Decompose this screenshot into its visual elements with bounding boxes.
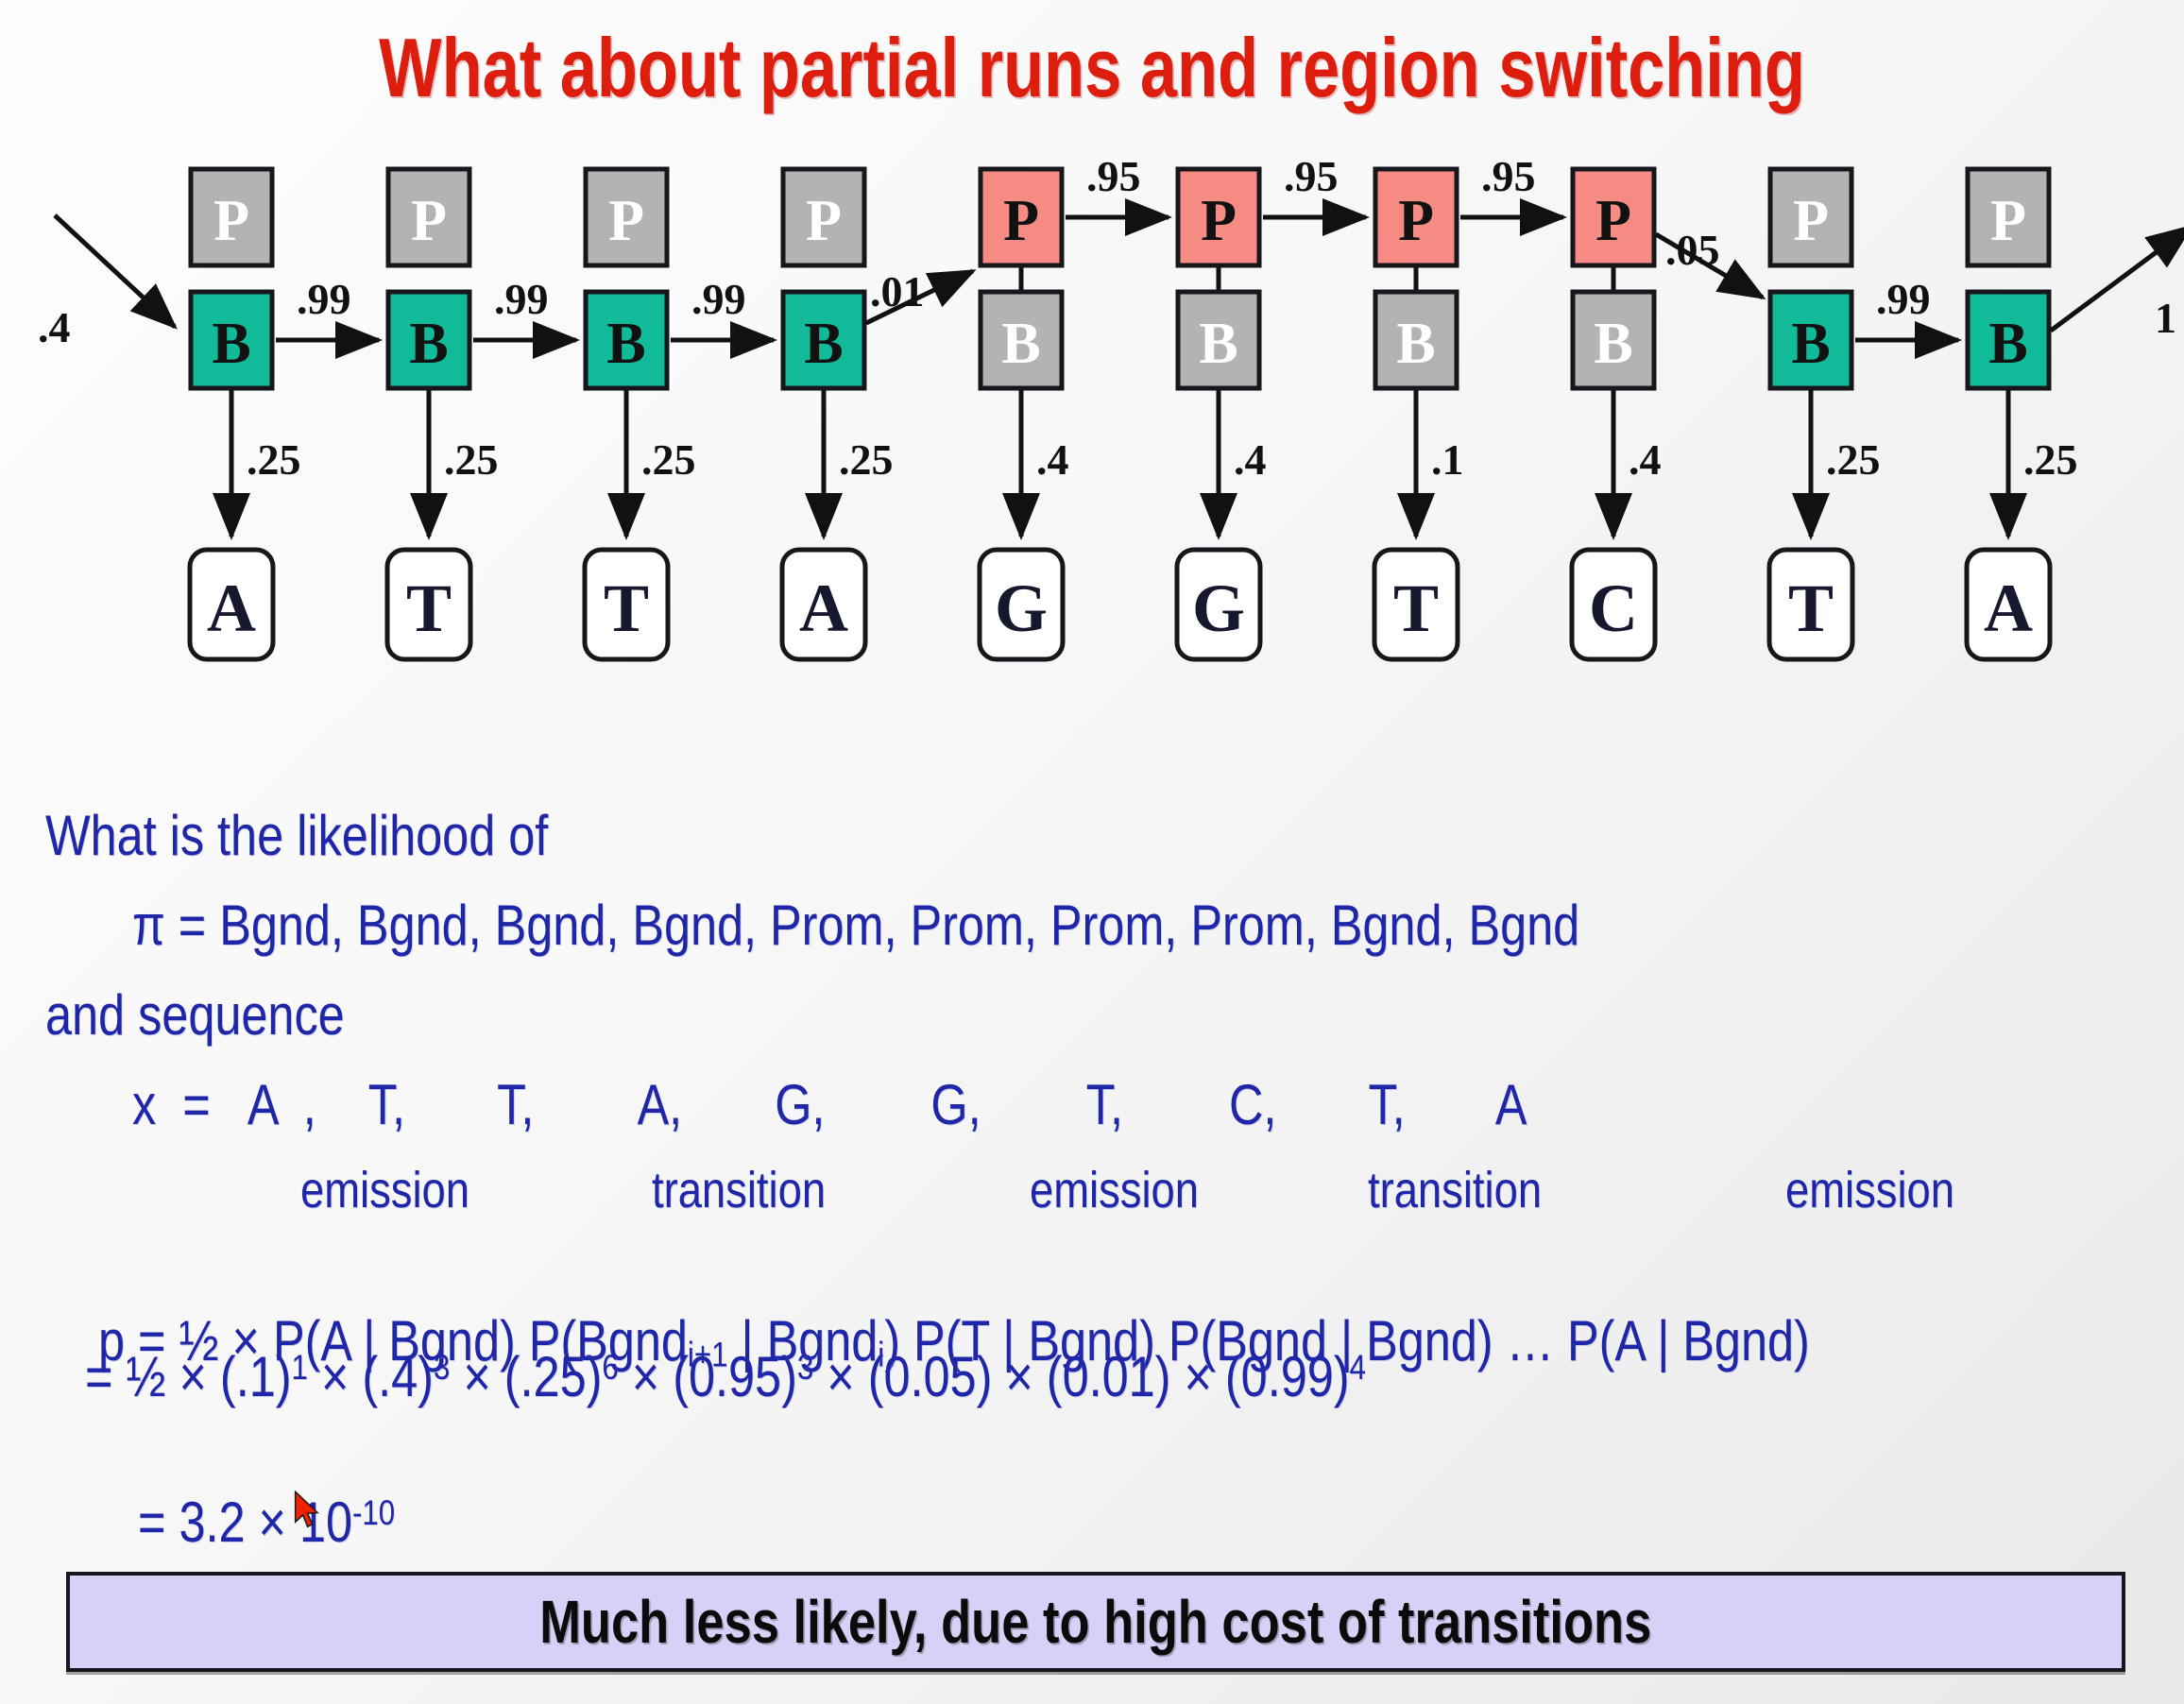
formula2-part-3: 3 [434, 1347, 450, 1387]
state-label-background-7: B [1396, 312, 1435, 376]
emission-label-3: .25 [641, 435, 696, 484]
formula2-part-4: × (.25) [450, 1345, 602, 1408]
state-label-background-8: B [1594, 312, 1632, 376]
state-label-promoter-7: P [1398, 189, 1434, 253]
transition-label-9: .99 [1876, 275, 1931, 323]
emission-label-4: .25 [839, 435, 894, 484]
step-label-emission-0: emission [300, 1165, 469, 1216]
base-label-6: G [1192, 571, 1245, 646]
mouse-pointer-icon [293, 1491, 321, 1530]
exit-prob-label: 1 [2155, 294, 2176, 342]
state-label-promoter-8: P [1595, 189, 1631, 253]
formula2-part-6: × (0.95) [619, 1345, 797, 1408]
formula2-part-2: × (.4) [308, 1345, 434, 1408]
emission-label-10: .25 [2023, 435, 2078, 484]
x-sequence-line: x = A , T, T, A, G, G, T, C, T, A [132, 1077, 1527, 1133]
step-label-emission-4: emission [1785, 1165, 1954, 1216]
start-prob-label: .4 [38, 303, 71, 351]
pi-path-line: π = Bgnd, Bgnd, Bgnd, Bgnd, Prom, Prom, … [132, 897, 1579, 954]
state-label-background-1: B [212, 312, 250, 376]
state-label-background-5: B [1001, 312, 1040, 376]
transition-label-7: .95 [1481, 152, 1536, 200]
state-label-background-10: B [1988, 312, 2027, 376]
base-label-8: C [1589, 571, 1638, 646]
start-arrow [55, 215, 175, 327]
transition-label-1: .99 [297, 275, 351, 323]
step-label-transition-1: transition [652, 1165, 826, 1216]
state-label-promoter-5: P [1003, 189, 1039, 253]
formula2-part-8: × (0.05) × (0.01) × (0.99) [813, 1345, 1349, 1408]
state-label-promoter-10: P [1990, 189, 2026, 253]
transition-label-5: .95 [1086, 152, 1141, 200]
state-label-background-2: B [409, 312, 448, 376]
state-label-promoter-2: P [411, 189, 447, 253]
conclusion-banner-text: Much less likely, due to high cost of tr… [539, 1587, 1651, 1657]
emission-label-9: .25 [1826, 435, 1881, 484]
hmm-diagram: PBPBPBPBPBPBPBPBPBPB.99.99.99.01.95.95.9… [0, 142, 2184, 756]
step-label-emission-2: emission [1030, 1165, 1199, 1216]
formula2-part-9: 4 [1350, 1347, 1366, 1387]
slide-canvas: What about partial runs and region switc… [0, 0, 2184, 1704]
base-label-3: T [604, 571, 649, 646]
formula-exponent: -10 [352, 1492, 395, 1532]
formula2-part-1: 1 [292, 1347, 308, 1387]
conclusion-banner: Much less likely, due to high cost of tr… [66, 1572, 2125, 1672]
hmm-diagram-svg: PBPBPBPBPBPBPBPBPBPB.99.99.99.01.95.95.9… [0, 142, 2184, 756]
emission-label-6: .4 [1234, 435, 1267, 484]
state-label-promoter-4: P [806, 189, 842, 253]
state-label-promoter-9: P [1793, 189, 1829, 253]
base-label-1: A [207, 571, 256, 646]
step-label-transition-3: transition [1368, 1165, 1542, 1216]
formula2-part-7: 3 [797, 1347, 813, 1387]
state-label-promoter-3: P [608, 189, 644, 253]
state-label-background-9: B [1791, 312, 1830, 376]
transition-label-2: .99 [494, 275, 549, 323]
emission-label-5: .4 [1036, 435, 1069, 484]
state-label-background-3: B [606, 312, 645, 376]
base-label-10: A [1984, 571, 2033, 646]
emission-label-1: .25 [247, 435, 301, 484]
base-label-4: A [799, 571, 848, 646]
base-label-7: T [1393, 571, 1439, 646]
base-label-5: G [995, 571, 1048, 646]
base-label-9: T [1788, 571, 1834, 646]
transition-label-6: .95 [1284, 152, 1339, 200]
transition-label-3: .99 [691, 275, 746, 323]
state-label-background-4: B [804, 312, 843, 376]
and-sequence-line: and sequence [45, 987, 345, 1044]
formula-line-2: = ½ × (.1)1 × (.4)3 × (.25)6 × (0.95)3 ×… [85, 1349, 1366, 1406]
emission-label-7: .1 [1431, 435, 1464, 484]
state-label-promoter-6: P [1201, 189, 1237, 253]
formula2-part-5: 6 [602, 1347, 618, 1387]
formula2-part-0: = ½ × (.1) [85, 1345, 292, 1408]
transition-label-8: .05 [1665, 226, 1720, 274]
emission-label-8: .4 [1629, 435, 1662, 484]
emission-label-2: .25 [444, 435, 499, 484]
question-line: What is the likelihood of [45, 808, 548, 864]
state-label-promoter-1: P [213, 189, 249, 253]
base-label-2: T [406, 571, 452, 646]
page-title: What about partial runs and region switc… [218, 26, 1966, 110]
transition-label-4: .01 [870, 267, 925, 315]
state-label-background-6: B [1199, 312, 1237, 376]
